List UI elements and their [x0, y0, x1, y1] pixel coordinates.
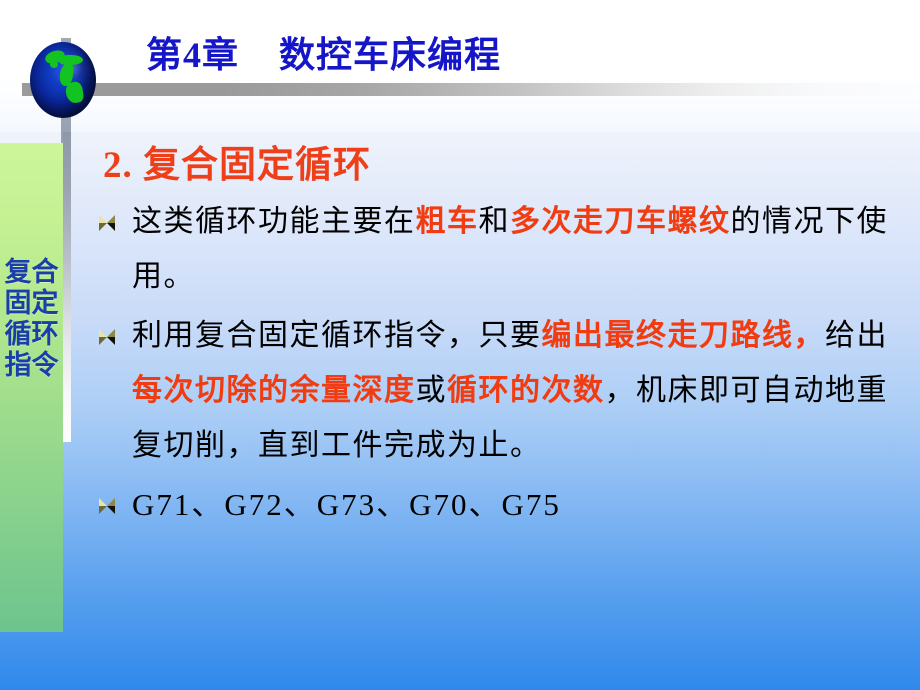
- page-title: 第4章 数控车床编程: [146, 26, 501, 78]
- sidebar-chapter-tab[interactable]: 复合固定循环指令: [0, 143, 63, 632]
- bullet-text: G71、G72、G73、G70、G75: [132, 487, 561, 522]
- diamond-bullet-icon: [99, 329, 115, 345]
- slide-canvas: 第4章 数控车床编程 复合固定循环指令 2. 复合固定循环 这类循环功能主要在粗…: [0, 0, 920, 690]
- bullet-list: 这类循环功能主要在粗车和多次走刀车螺纹的情况下使用。 利用复合固定循环指令，只要…: [95, 194, 910, 532]
- body-text: 和: [479, 205, 511, 238]
- diamond-bullet-icon: [99, 498, 115, 514]
- emphasis-text: 多次走刀车螺纹: [510, 205, 731, 238]
- diamond-bullet-icon: [99, 215, 115, 231]
- list-item: 利用复合固定循环指令，只要编出最终走刀路线，给出每次切除的余量深度或循环的次数，…: [95, 308, 910, 473]
- section-heading: 2. 复合固定循环: [103, 134, 910, 188]
- body-text: 给出: [825, 319, 888, 352]
- body-text: 利用复合固定循环指令，只要: [132, 319, 542, 352]
- list-item: 这类循环功能主要在粗车和多次走刀车螺纹的情况下使用。: [95, 194, 910, 304]
- emphasis-text: 编出最终走刀路线，: [542, 319, 826, 352]
- slide-header: 第4章 数控车床编程: [0, 0, 920, 132]
- sidebar-edge-highlight: [63, 132, 71, 442]
- slide-content: 2. 复合固定循环 这类循环功能主要在粗车和多次走刀车螺纹的情况下使用。 利用复…: [95, 134, 910, 536]
- emphasis-text: 循环的次数: [447, 374, 605, 407]
- body-text: 或: [416, 374, 448, 407]
- body-text: 这类循环功能主要在: [132, 205, 416, 238]
- bullet-text: 利用复合固定循环指令，只要编出最终走刀路线，给出每次切除的余量深度或循环的次数，…: [132, 319, 888, 462]
- header-horizontal-rule: [22, 83, 920, 96]
- globe-icon: [30, 42, 96, 118]
- sidebar-vertical-label: 复合固定循环指令: [0, 257, 63, 381]
- body-text: G71、G72、G73、G70、G75: [132, 487, 561, 522]
- list-item: G71、G72、G73、G70、G75: [95, 477, 910, 532]
- bullet-text: 这类循环功能主要在粗车和多次走刀车螺纹的情况下使用。: [132, 205, 888, 293]
- emphasis-text: 粗车: [416, 205, 479, 238]
- emphasis-text: 每次切除的余量深度: [132, 374, 416, 407]
